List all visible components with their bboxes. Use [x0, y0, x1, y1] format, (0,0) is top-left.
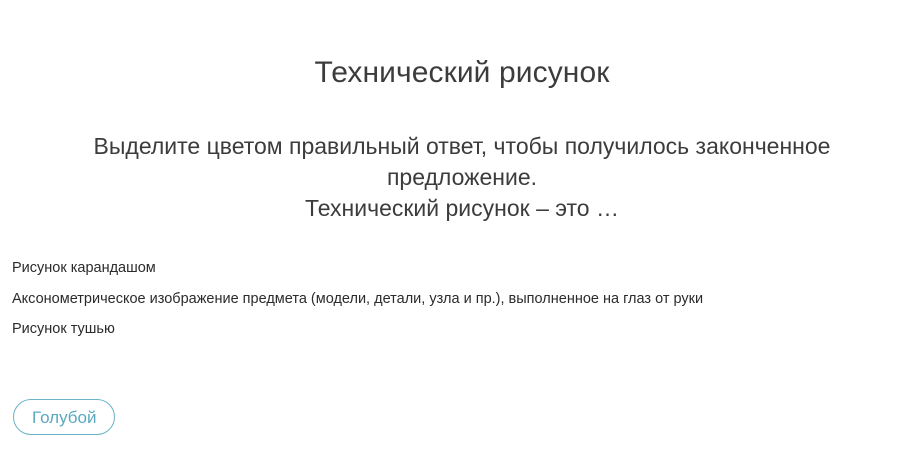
answer-options-list: Рисунок карандашом Аксонометрическое изо… [12, 260, 918, 338]
answer-option[interactable]: Рисунок карандашом [12, 260, 918, 277]
instruction-block: Выделите цветом правильный ответ, чтобы … [12, 131, 912, 224]
answer-option[interactable]: Аксонометрическое изображение предмета (… [12, 291, 918, 308]
color-highlight-button[interactable]: Голубой [13, 399, 115, 435]
instruction-line-2: предложение. [12, 162, 912, 193]
answer-option[interactable]: Рисунок тушью [12, 321, 918, 338]
instruction-line-1: Выделите цветом правильный ответ, чтобы … [12, 131, 912, 162]
page-title: Технический рисунок [0, 54, 924, 92]
worksheet-page: Технический рисунок Выделите цветом прав… [0, 0, 924, 470]
question-stem: Технический рисунок – это … [12, 193, 912, 224]
